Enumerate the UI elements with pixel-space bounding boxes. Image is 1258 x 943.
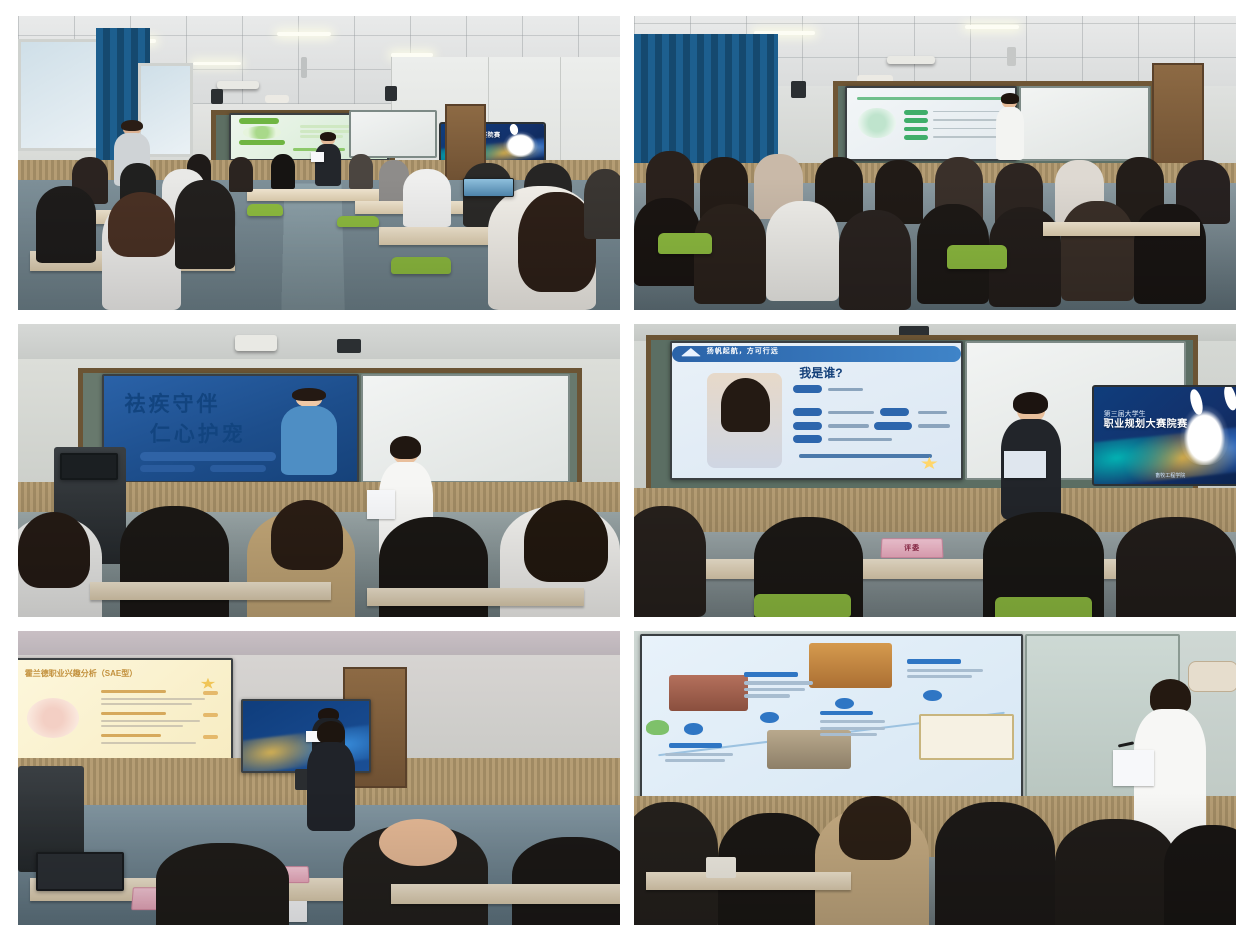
photo-bottom-left[interactable]: 霍兰德职业兴趣分析（SAE型） — [18, 631, 620, 925]
photo-vignette — [634, 324, 1236, 618]
photo-vignette — [18, 324, 620, 618]
photo-vignette — [634, 16, 1236, 310]
photo-top-left[interactable]: 第三届大学生 职业规划大赛院赛 — [18, 16, 620, 310]
photo-vignette — [18, 16, 620, 310]
photo-middle-left[interactable]: 祛疾守伴 仁心护宠 — [18, 324, 620, 618]
photo-middle-right[interactable]: 扬帆起航，方可行远 我是谁? — [634, 324, 1236, 618]
collage-grid: 第三届大学生 职业规划大赛院赛 — [18, 16, 1236, 925]
photo-top-right[interactable] — [634, 16, 1236, 310]
photo-bottom-right[interactable] — [634, 631, 1236, 925]
photo-vignette — [634, 631, 1236, 925]
photo-collage: 第三届大学生 职业规划大赛院赛 — [0, 0, 1258, 943]
photo-vignette — [18, 631, 620, 925]
